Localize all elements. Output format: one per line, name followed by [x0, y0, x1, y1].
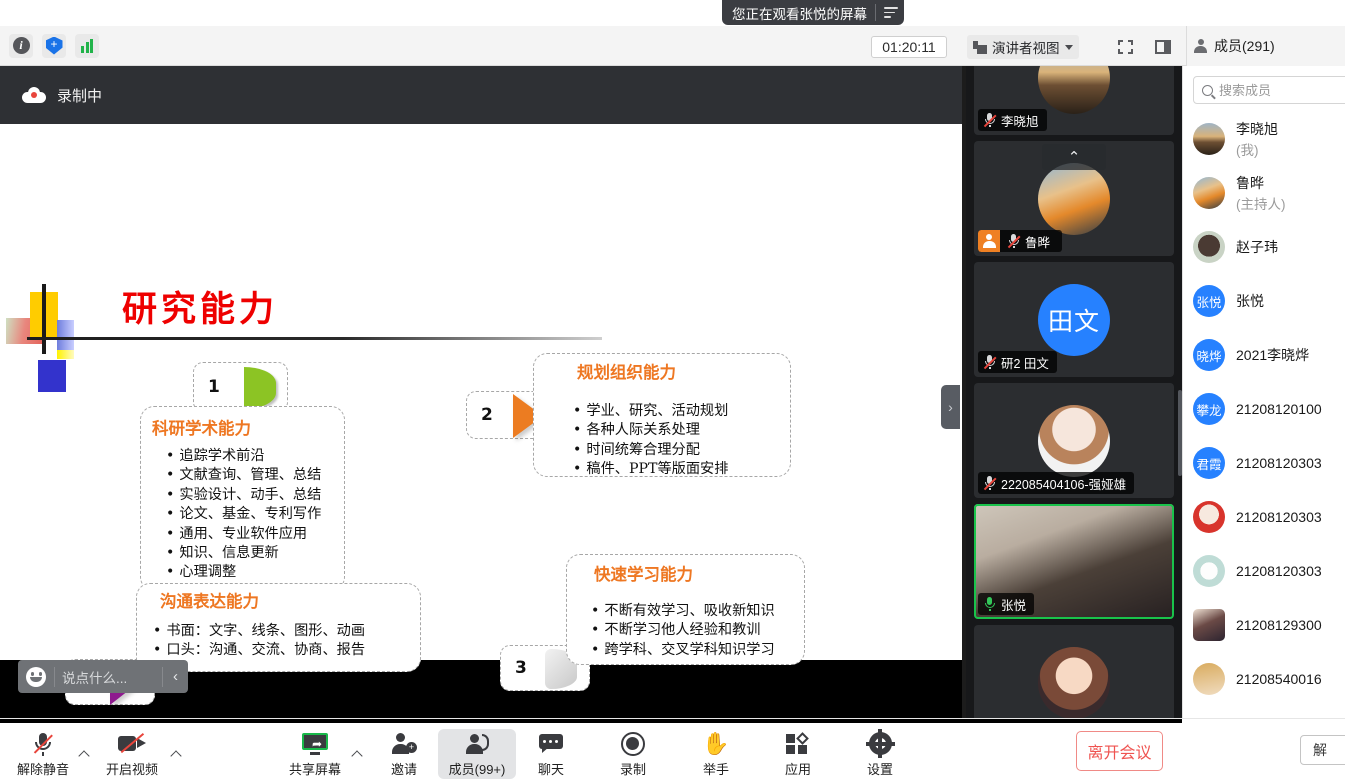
recording-label: 录制中 [57, 85, 102, 106]
participant-name-pill: 222085404106-强娅雄 [978, 472, 1134, 494]
mic-muted-icon [983, 476, 996, 490]
meeting-timer: 01:20:11 [871, 36, 947, 58]
toolbar-top-edge [0, 719, 1182, 723]
participant-display-name: 21208120303 [1236, 455, 1322, 471]
participant-name: 研2 田文 [1001, 353, 1049, 372]
deco-blue-box [38, 360, 66, 392]
bullet: 不断有效学习、吸收新知识 [591, 602, 775, 621]
bullet: 学业、研究、活动规划 [573, 402, 728, 421]
members-count-label: 成员(291) [1214, 36, 1275, 56]
participant-row[interactable]: 赵子玮 [1183, 220, 1345, 274]
top-banner: 您正在观看张悦的屏幕 [0, 0, 1345, 26]
watching-screen-text: 您正在观看张悦的屏幕 [732, 3, 867, 23]
avatar-initials: 张悦 [1193, 285, 1225, 317]
participant-name: 李晓旭 [1001, 111, 1039, 130]
participant-display-name: 赵子玮 [1236, 237, 1278, 257]
avatar [1193, 123, 1225, 155]
bullet: 通用、专业软件应用 [166, 525, 321, 544]
participant-display-name: 张悦 [1236, 291, 1264, 311]
speaker-view-icon [973, 41, 987, 54]
participant-display-name: 21208120303 [1236, 509, 1322, 525]
bullet: 追踪学术前沿 [166, 447, 321, 466]
person-icon [1193, 39, 1208, 54]
participant-row[interactable]: 21208120303 [1183, 490, 1345, 544]
mic-muted-icon [983, 355, 996, 369]
search-input[interactable] [1219, 83, 1345, 98]
participant-row[interactable]: 鲁晔 (主持人) [1183, 166, 1345, 220]
toolbar-label: 成员(99+) [449, 759, 506, 778]
toolbar-raise-hand-button[interactable]: ✋ 举手 [681, 729, 751, 779]
participant-name: 鲁晔 [1025, 232, 1054, 251]
cloud-recording-icon [22, 87, 46, 103]
participant-role: (主持人) [1236, 193, 1286, 213]
leave-meeting-button[interactable]: 离开会议 [1076, 731, 1163, 771]
mic-muted-icon [1007, 234, 1020, 248]
avatar-initials: 晓烨 [1193, 339, 1225, 371]
video-options-chevron-icon[interactable] [170, 751, 182, 763]
bullet: 心理调整 [166, 563, 321, 582]
watching-screen-notice: 您正在观看张悦的屏幕 [722, 0, 904, 25]
toolbar-label: 应用 [785, 759, 811, 778]
video-tile[interactable]: 田文 研2 田文 [974, 262, 1174, 377]
toolbar-label: 邀请 [391, 759, 417, 778]
side-panel-icon[interactable] [1150, 35, 1176, 59]
card-bullets-2: 学业、研究、活动规划 各种人际关系处理 时间统筹合理分配 稿件、PPT等版面安排 [573, 402, 728, 480]
participant-row[interactable]: 君霞 21208120303 [1183, 436, 1345, 490]
card-bullets-1: 追踪学术前沿 文献查询、管理、总结 实验设计、动手、总结 论文、基金、专利写作 … [166, 447, 321, 583]
view-mode-label: 演讲者视图 [992, 37, 1060, 57]
participant-name-pill: 鲁晔 [978, 230, 1062, 252]
card-title-2: 规划组织能力 [577, 359, 676, 383]
avatar [1038, 66, 1110, 114]
deco-vertical-line [42, 284, 46, 354]
avatar-initials: 攀龙 [1193, 393, 1225, 425]
toolbar-invite-button[interactable]: + 邀请 [370, 729, 438, 779]
raise-hand-icon: ✋ [702, 731, 729, 757]
participant-display-name: 21208129300 [1236, 617, 1322, 633]
settings-gear-icon [869, 731, 892, 757]
bullet: 文献查询、管理、总结 [166, 466, 321, 485]
slide-title: 研究能力 [122, 281, 278, 332]
bullet: 不断学习他人经验和教训 [591, 621, 775, 640]
chat-icon [539, 731, 563, 757]
participants-icon [464, 731, 490, 757]
participant-row[interactable]: 张悦 张悦 [1183, 274, 1345, 328]
avatar-initials: 田文 [1038, 284, 1110, 356]
filmstrip-collapse-handle[interactable]: › [941, 385, 960, 429]
avatar [1193, 177, 1225, 209]
participant-name: 鲁晔 (主持人) [1236, 173, 1286, 213]
avatar [1038, 405, 1110, 477]
hamburger-icon[interactable] [884, 6, 898, 18]
card-number-2: 2 [481, 405, 493, 425]
panel-footer-button[interactable]: 解 [1300, 735, 1345, 765]
deco-horizontal-line [27, 337, 602, 340]
toolbar-video-button[interactable]: 开启视频 [93, 729, 171, 779]
card-bullets-3: 不断有效学习、吸收新知识 不断学习他人经验和教训 跨学科、交叉学科知识学习 [591, 602, 775, 660]
toolbar-label: 开启视频 [106, 759, 158, 778]
participant-row[interactable]: 攀龙 21208120100 [1183, 382, 1345, 436]
toolbar-mute-button[interactable]: 解除静音 [4, 729, 82, 779]
participant-role: (我) [1236, 139, 1278, 159]
participant-row[interactable]: 21208129300 [1183, 598, 1345, 652]
toolbar-label: 共享屏幕 [289, 759, 341, 778]
video-tile[interactable]: 222085404106-强娅雄 [974, 383, 1174, 498]
host-badge-icon [978, 230, 1000, 252]
participant-row[interactable]: 21208540016 [1183, 652, 1345, 702]
avatar [1193, 609, 1225, 641]
mic-on-icon [983, 597, 996, 611]
bullet: 实验设计、动手、总结 [166, 486, 321, 505]
participant-name: 张悦 [1001, 595, 1026, 614]
participant-name-pill: 张悦 [978, 593, 1034, 615]
card-bullets-4: 书面：文字、线条、图形、动画 口头：沟通、交流、协商、报告 [153, 622, 365, 661]
toolbar-label: 举手 [703, 759, 729, 778]
avatar [1038, 163, 1110, 235]
bullet: 跨学科、交叉学科知识学习 [591, 641, 775, 660]
participant-row[interactable]: 李晓旭 (我) [1183, 112, 1345, 166]
participant-display-name: 21208120100 [1236, 401, 1322, 417]
quick-chat-bar[interactable]: 说点什么... ‹ [18, 660, 188, 693]
apps-icon [786, 731, 810, 757]
toolbar-share-button[interactable]: ➦ 共享屏幕 [276, 729, 354, 779]
video-tile[interactable] [974, 625, 1174, 718]
bullet: 各种人际关系处理 [573, 421, 728, 440]
bullet: 口头：沟通、交流、协商、报告 [153, 641, 365, 660]
participant-name: 222085404106-强娅雄 [1001, 474, 1126, 493]
toolbar-chat-button[interactable]: 聊天 [516, 729, 586, 779]
members-panel-header: 成员(291) [1186, 26, 1345, 66]
participants-panel: 李晓旭 (我) 鲁晔 (主持人) 赵子玮 张悦 张悦 晓烨 2021李晓烨 攀龙… [1182, 66, 1345, 718]
shield-plus-icon[interactable]: + [42, 34, 66, 58]
search-members-field[interactable] [1193, 76, 1345, 104]
toolbar-label: 聊天 [538, 759, 564, 778]
participant-name: 李晓旭 (我) [1236, 119, 1278, 159]
quick-chat-input[interactable]: 说点什么... [54, 667, 162, 687]
card-title-3: 快速学习能力 [594, 561, 693, 585]
chat-collapse-icon[interactable]: ‹ [162, 667, 188, 687]
meeting-control-bar: i + [0, 26, 1345, 66]
chevron-down-icon [1065, 45, 1073, 50]
avatar [1038, 647, 1110, 719]
bullet: 论文、基金、专利写作 [166, 505, 321, 524]
avatar-initials: 君霞 [1193, 447, 1225, 479]
shared-screen-stage[interactable]: 录制中 研究能力 1 科研学术能力 追踪学术前沿 文献查询、管理、总结 实验设计… [0, 66, 966, 718]
presentation-slide: 研究能力 1 科研学术能力 追踪学术前沿 文献查询、管理、总结 实验设计、动手、… [0, 124, 966, 660]
half-circle-green-icon [244, 367, 276, 409]
participant-row[interactable]: 晓烨 2021李晓烨 [1183, 328, 1345, 382]
bullet: 稿件、PPT等版面安排 [573, 460, 728, 479]
recording-bar: 录制中 [0, 66, 966, 124]
participant-display-name: 2021李晓烨 [1236, 345, 1309, 365]
bullet: 知识、信息更新 [166, 544, 321, 563]
mute-options-chevron-icon[interactable] [78, 751, 90, 763]
participant-name-pill: 研2 田文 [978, 351, 1057, 373]
share-options-chevron-icon[interactable] [351, 751, 363, 763]
toolbar-apps-button[interactable]: 应用 [763, 729, 833, 779]
share-screen-icon: ➦ [301, 731, 329, 757]
bullet: 书面：文字、线条、图形、动画 [153, 622, 365, 641]
card-title-1: 科研学术能力 [152, 415, 251, 439]
avatar [1193, 501, 1225, 533]
participant-row[interactable]: 21208120303 [1183, 544, 1345, 598]
participant-display-name: 21208540016 [1236, 671, 1322, 687]
toolbar-record-button[interactable]: 录制 [598, 729, 668, 779]
fullscreen-icon[interactable] [1112, 35, 1138, 59]
participant-display-name: 李晓旭 [1236, 121, 1278, 137]
info-icon[interactable]: i [9, 34, 33, 58]
signal-bars-icon[interactable] [75, 34, 99, 58]
camera-off-icon [118, 731, 146, 757]
card-number-box-1: 1 [193, 362, 288, 412]
invite-icon: + [391, 731, 417, 757]
toolbar-label: 录制 [620, 759, 646, 778]
view-mode-selector[interactable]: 演讲者视图 [967, 35, 1079, 59]
avatar [1193, 231, 1225, 263]
toolbar-participants-button[interactable]: 成员(99+) [438, 729, 516, 779]
video-filmstrip[interactable]: ⌃ 李晓旭 鲁晔 田文 研2 田文 222085404106-强娅雄 [966, 66, 1182, 718]
mic-muted-icon [983, 113, 996, 127]
participant-display-name: 21208120303 [1236, 563, 1322, 579]
toolbar-settings-button[interactable]: 设置 [845, 729, 915, 779]
toolbar-label: 设置 [867, 759, 893, 778]
deco-yellow-gradient [57, 350, 74, 359]
video-tile-active[interactable]: 张悦 [974, 504, 1174, 619]
card-title-4: 沟通表达能力 [160, 588, 259, 612]
participant-display-name: 鲁晔 [1236, 175, 1264, 191]
card-number-3: 3 [515, 658, 527, 678]
card-number-1: 1 [208, 377, 220, 397]
bullet: 时间统筹合理分配 [573, 441, 728, 460]
smiley-icon[interactable] [26, 667, 46, 687]
avatar [1193, 555, 1225, 587]
divider [875, 4, 876, 21]
avatar [1193, 663, 1225, 695]
toolbar-label: 解除静音 [17, 759, 69, 778]
video-tile[interactable]: 李晓旭 [974, 66, 1174, 135]
participant-name-pill: 李晓旭 [978, 109, 1047, 131]
filmstrip-scroll-up-icon[interactable]: ⌃ [1042, 144, 1106, 170]
search-icon [1202, 85, 1213, 96]
mic-muted-icon [33, 731, 53, 757]
record-icon [621, 731, 645, 757]
